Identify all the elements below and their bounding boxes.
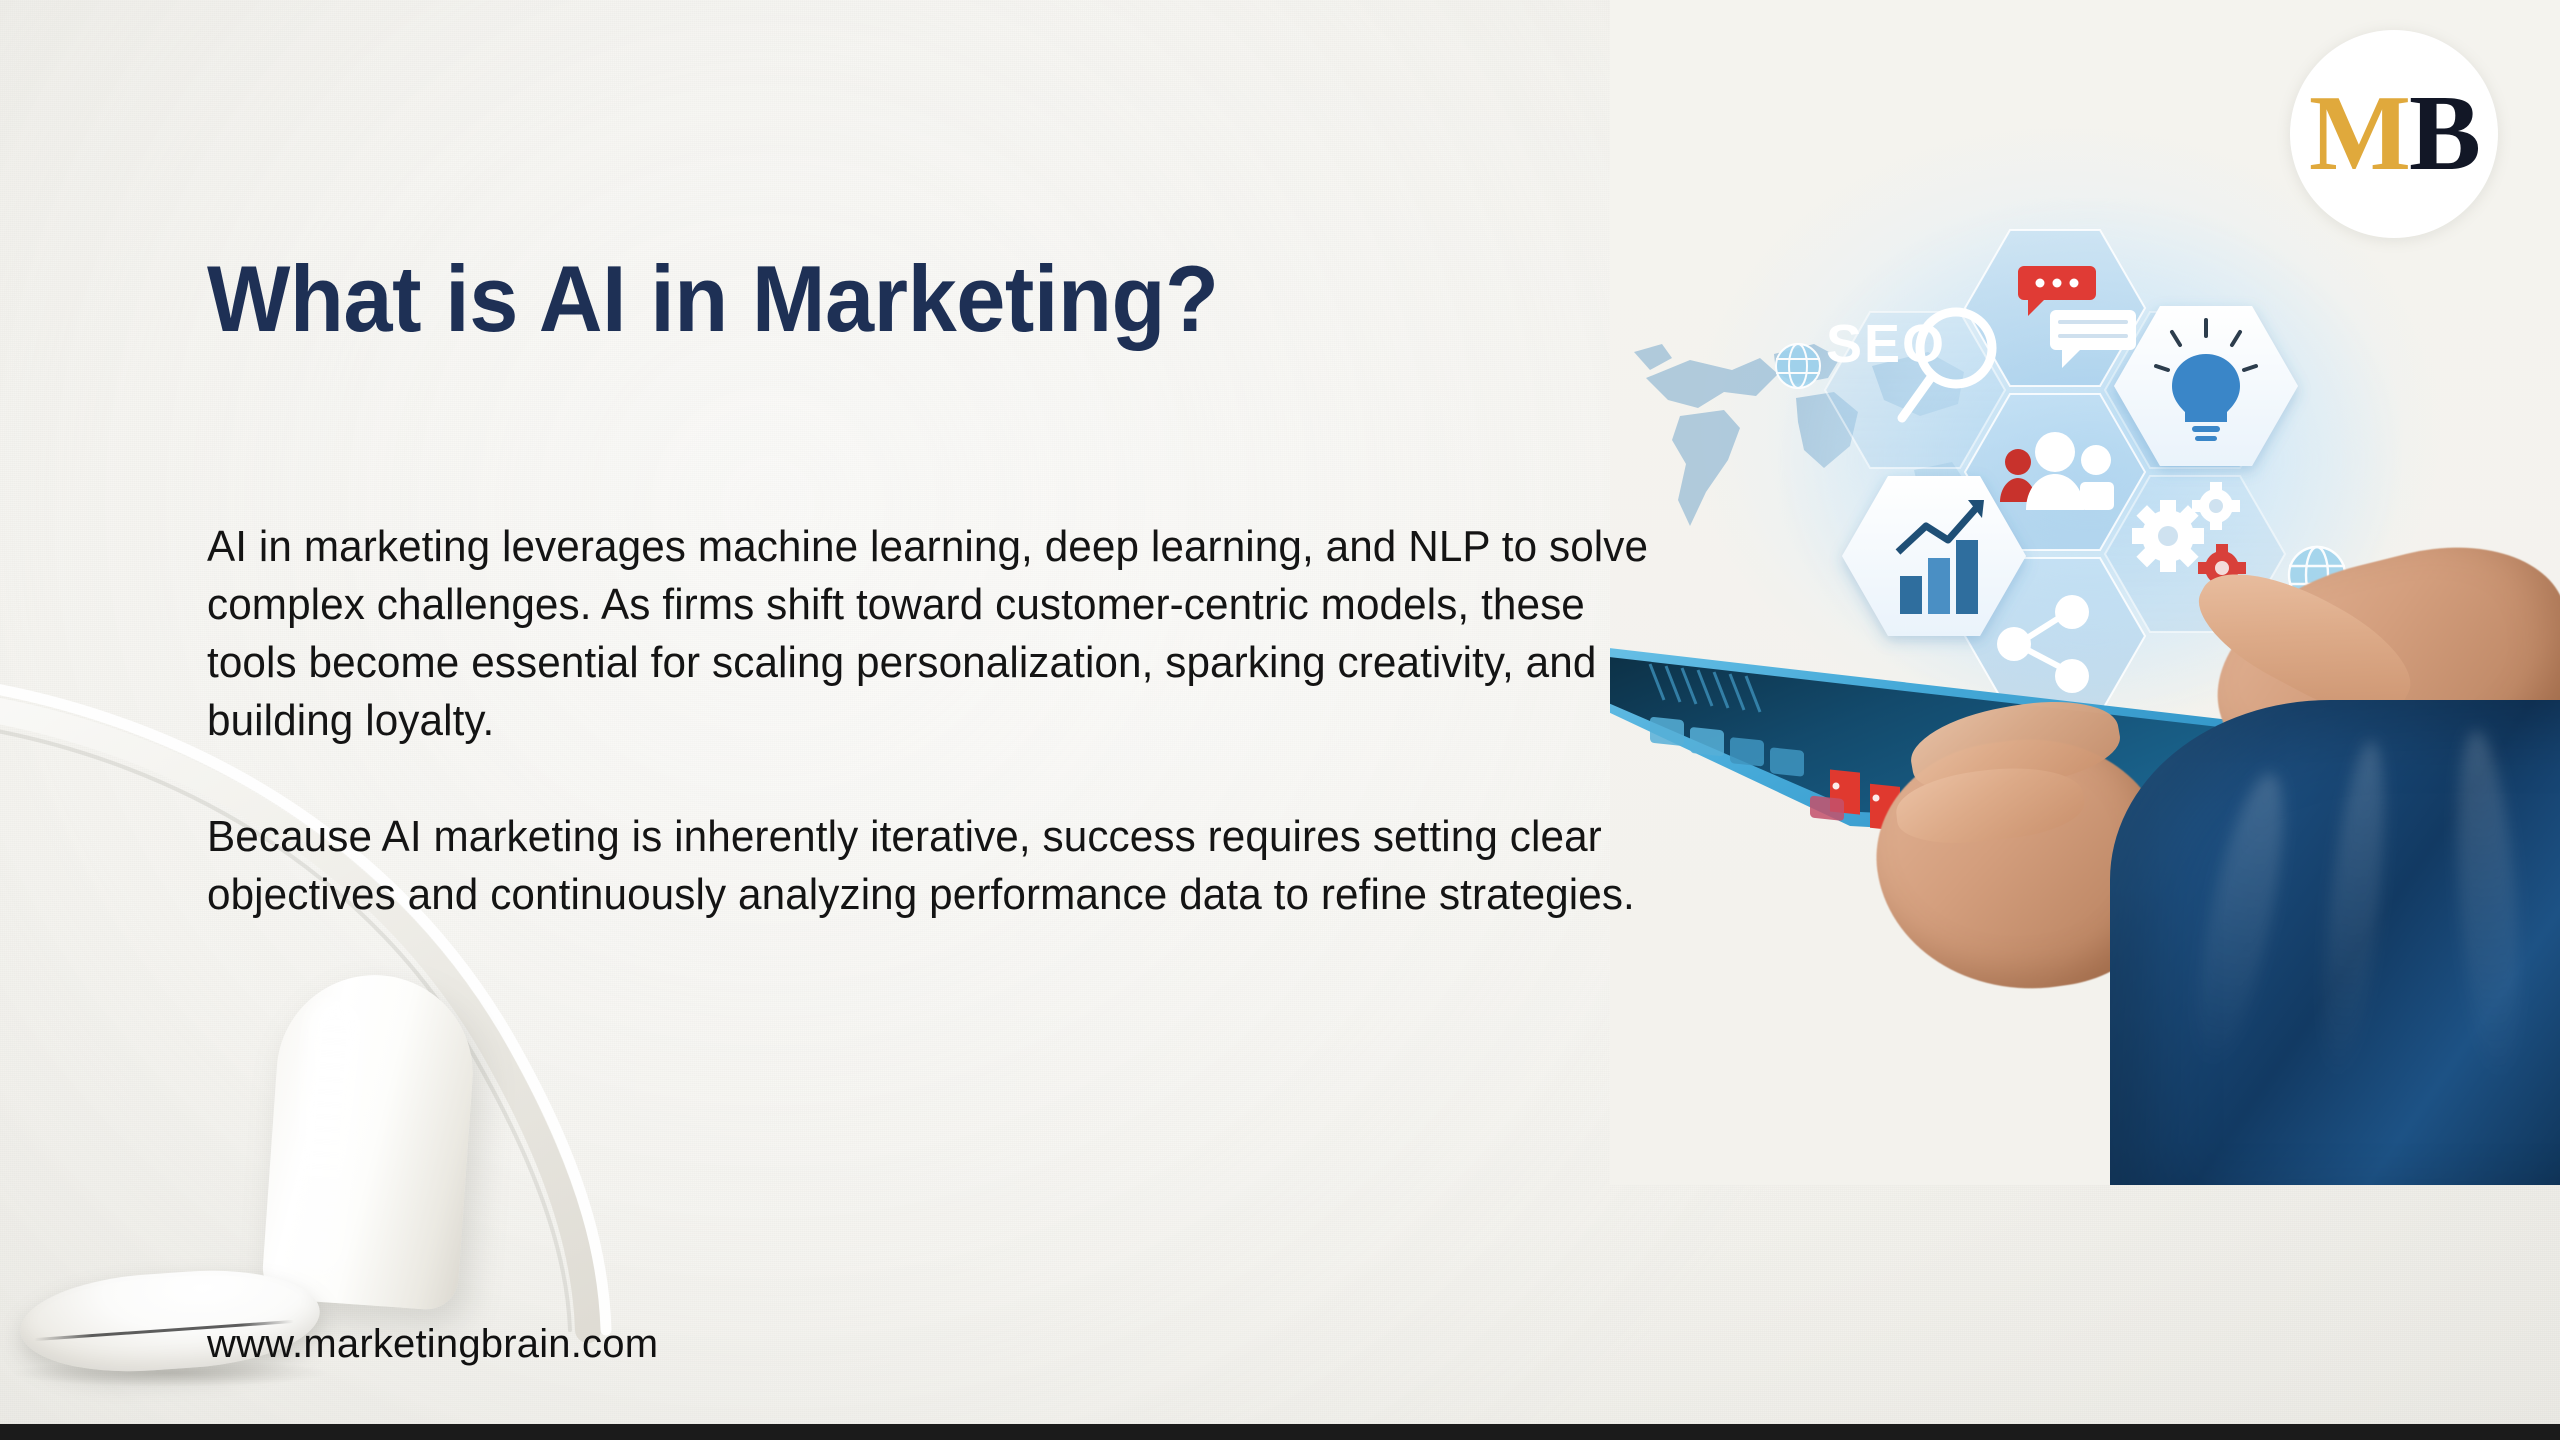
footer-website-url[interactable]: www.marketingbrain.com: [207, 1322, 658, 1367]
globe-icon: [1776, 344, 1820, 388]
bottom-band: [0, 1424, 2560, 1440]
paragraph-2: Because AI marketing is inherently itera…: [207, 808, 1666, 924]
logo-letters: MB: [2309, 80, 2479, 188]
paragraph-1: AI in marketing leverages machine learni…: [207, 518, 1666, 750]
logo-letter-b: B: [2409, 74, 2479, 193]
mb-logo[interactable]: MB: [2290, 30, 2498, 238]
body-copy: AI in marketing leverages machine learni…: [207, 518, 1727, 924]
logo-letter-m: M: [2309, 74, 2409, 193]
page-title: What is AI in Marketing?: [207, 252, 1218, 346]
slide-canvas: SEO: [0, 0, 2560, 1440]
